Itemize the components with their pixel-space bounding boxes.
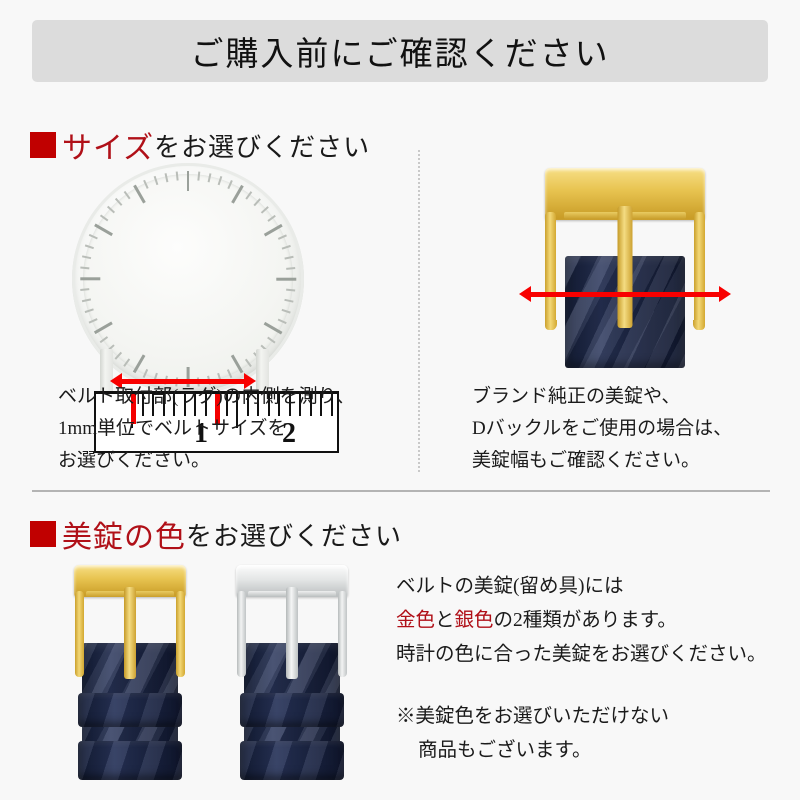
size-caption-left-line1: ベルト取付部(ラグ)の内側を測り、 xyxy=(58,381,355,413)
section-heading-buckle-color: 美錠の色 をお選びください xyxy=(30,512,402,556)
horizontal-divider xyxy=(32,490,770,492)
buckle-color-note-line2: 商品もございます。 xyxy=(396,734,669,768)
buckle-arm-right xyxy=(338,591,347,677)
gold-color-word: 金色 xyxy=(396,610,435,631)
size-caption-right-line1: ブランド純正の美錠や、 xyxy=(472,381,732,413)
arrow-head-right-icon xyxy=(719,286,731,302)
buckle-tongue xyxy=(286,587,298,679)
silver-buckle-sample-image xyxy=(232,565,352,780)
watch-minute-tick xyxy=(81,267,90,269)
page-title: ご購入前にご確認ください xyxy=(190,27,609,75)
buckle-arm-right xyxy=(694,212,705,330)
section-heading-size-accent: サイズ xyxy=(62,123,154,167)
size-caption-right-line2: Dバックルをご使用の場合は、 xyxy=(472,413,732,445)
buckle-tongue xyxy=(618,206,633,328)
section-heading-size: サイズ をお選びください xyxy=(30,123,370,167)
buckle-arm-right xyxy=(176,591,185,677)
square-bullet-icon xyxy=(30,132,56,158)
buckle-arm-left xyxy=(75,591,84,677)
size-caption-left: ベルト取付部(ラグ)の内側を測り、 1mm単位でベルトサイズを お選びください。 xyxy=(58,381,355,477)
size-caption-right: ブランド純正の美錠や、 Dバックルをご使用の場合は、 美錠幅もご確認ください。 xyxy=(472,381,732,477)
size-caption-right-line3: 美錠幅もご確認ください。 xyxy=(472,445,732,477)
conjunction-and: と xyxy=(435,610,455,631)
buckle-width-arrow xyxy=(519,286,731,302)
watch-hour-marker xyxy=(80,278,100,281)
buckle-color-line1: ベルトの美錠(留め具)には xyxy=(396,570,767,604)
navy-strap-keeper xyxy=(78,693,182,727)
buckle-tongue xyxy=(124,587,136,679)
section-heading-size-rest: をお選びください xyxy=(154,127,370,164)
buckle-arm-left xyxy=(545,212,556,330)
buckle-color-line3: 時計の色に合った美錠をお選びください。 xyxy=(396,638,767,672)
watch-hour-marker xyxy=(187,171,190,191)
section-heading-color-accent: 美錠の色 xyxy=(62,512,186,556)
watch-hour-marker xyxy=(276,278,296,281)
buckle-arm-left-foot xyxy=(545,320,557,330)
buckle-color-note-line1: ※美錠色をお選びいただけない xyxy=(396,700,669,734)
watch-lug-measurement-diagram: 1 2 xyxy=(60,163,350,363)
buckle-arm-left xyxy=(237,591,246,677)
square-bullet-icon xyxy=(30,521,56,547)
navy-strap-tail xyxy=(78,741,182,780)
navy-strap-tail xyxy=(240,741,344,780)
gold-buckle-width-image xyxy=(505,168,745,368)
silver-color-word: 銀色 xyxy=(455,610,494,631)
navy-strap-keeper xyxy=(240,693,344,727)
buckle-color-line2: 金色と銀色の2種類があります。 xyxy=(396,604,767,638)
section-heading-color-rest: をお選びください xyxy=(186,516,402,553)
buckle-color-note: ※美錠色をお選びいただけない 商品もございます。 xyxy=(396,700,669,768)
size-caption-left-line2: 1mm単位でベルトサイズを xyxy=(58,413,355,445)
gold-buckle-sample-image xyxy=(70,565,190,780)
buckle-color-line2-tail: の2種類があります。 xyxy=(494,610,677,631)
size-caption-left-line3: お選びください。 xyxy=(58,445,355,477)
page-header-bar: ご購入前にご確認ください xyxy=(32,20,768,82)
vertical-divider xyxy=(418,150,420,472)
buckle-color-description: ベルトの美錠(留め具)には 金色と銀色の2種類があります。 時計の色に合った美錠… xyxy=(396,570,767,672)
arrow-shaft xyxy=(526,292,724,297)
